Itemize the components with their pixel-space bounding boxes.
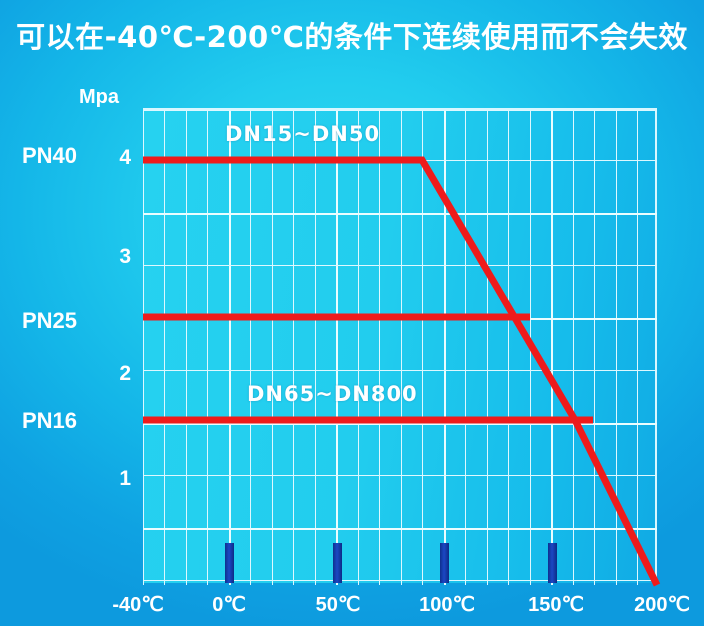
y-tick-1: 1 [105, 467, 131, 491]
pressure-class-pn25: PN25 [22, 308, 77, 334]
series-label-upper: DN15~DN50 [225, 122, 380, 146]
page-title: 可以在-40℃-200℃的条件下连续使用而不会失效 [0, 14, 704, 56]
infographic-page: 可以在-40℃-200℃的条件下连续使用而不会失效 Mpa 4 3 2 1 PN… [0, 0, 704, 626]
y-tick-4: 4 [105, 146, 131, 170]
series-label-lower: DN65~DN800 [247, 382, 418, 406]
pressure-class-pn16: PN16 [22, 408, 77, 434]
x-tick-minus40: -40℃ [112, 592, 163, 617]
chart-plot-area: DN15~DN50 DN65~DN800 [143, 108, 657, 583]
x-tick-150: 150℃ [528, 592, 584, 617]
pressure-class-pn40: PN40 [22, 143, 77, 169]
x-tick-100: 100℃ [419, 592, 475, 617]
series-overlay [143, 110, 657, 585]
x-tick-200: 200℃ [634, 592, 690, 617]
y-tick-3: 3 [105, 245, 131, 269]
y-tick-2: 2 [105, 362, 131, 386]
x-tick-0: 0℃ [212, 592, 246, 617]
series-dn15-dn50-line [143, 160, 657, 585]
y-axis-unit-label: Mpa [79, 86, 119, 109]
x-tick-50: 50℃ [316, 592, 361, 617]
